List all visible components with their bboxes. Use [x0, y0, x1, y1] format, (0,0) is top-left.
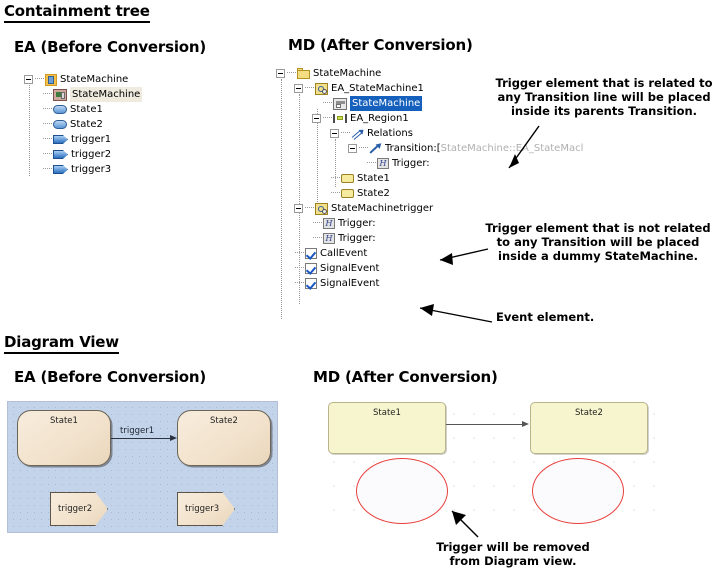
md-state-icon	[341, 174, 354, 183]
annotation-event-pointer	[398, 300, 494, 328]
annotation-line: from Diagram view.	[400, 554, 626, 568]
tree-connector	[295, 252, 304, 254]
expander-icon[interactable]	[330, 129, 339, 138]
ea-statemachine-icon	[53, 89, 67, 101]
tree-node-label: StateMachine	[350, 96, 422, 111]
tree-node-label: trigger1	[71, 132, 111, 147]
tree-node-label: State2	[70, 117, 103, 132]
annotation-line: Trigger element that is related to	[488, 76, 720, 90]
annotation-line: Event element.	[496, 310, 696, 324]
annotation-line: inside its parents Transition.	[488, 104, 720, 118]
tree-connector	[323, 102, 332, 104]
md-diagram-transition-line[interactable]	[446, 424, 526, 425]
ea-diagram-transition-label: trigger1	[120, 426, 154, 436]
tree-node-label: StateMachine	[70, 87, 142, 102]
ea-diagram-state1[interactable]: State1	[17, 410, 111, 466]
ea-trigger-icon	[53, 135, 68, 144]
expander-icon[interactable]	[348, 144, 357, 153]
event-icon	[305, 278, 317, 289]
tree-connector	[35, 78, 44, 80]
tree-connector	[43, 123, 52, 125]
tree-connector	[43, 168, 52, 170]
expander-icon[interactable]	[24, 75, 33, 84]
trigger-icon: H	[377, 158, 389, 169]
statemachine-icon	[315, 203, 328, 215]
tree-connector	[313, 222, 322, 224]
annotation-dummy-note: Trigger element that is not related to a…	[474, 221, 722, 263]
md-diagram-state2-label: State2	[531, 408, 647, 418]
tree-node-label: SignalEvent	[320, 261, 379, 276]
tree-node-trigger2[interactable]: trigger2	[24, 147, 254, 162]
tree-connector	[43, 93, 52, 95]
tree-node-statemachine-root[interactable]: StateMachine	[24, 72, 254, 87]
tree-node-label: EA_StateMachine1	[331, 81, 424, 96]
tree-node-label: CallEvent	[320, 246, 367, 261]
md-diagram-removed-trigger-1[interactable]	[356, 458, 448, 524]
event-icon	[305, 248, 317, 259]
annotation-line: inside a dummy StateMachine.	[474, 249, 722, 263]
md-diagram-state1-label: State1	[329, 408, 445, 418]
tree-node-state1[interactable]: State1	[24, 102, 254, 117]
region-icon	[333, 114, 347, 123]
ea-diagram-trigger3-label: trigger3	[178, 493, 234, 525]
tree-connector	[313, 237, 322, 239]
md-diagram-state1[interactable]: State1	[328, 402, 446, 454]
ea-diagram-transition-arrowhead	[170, 435, 177, 441]
tree-node-statemachine-child[interactable]: StateMachine	[24, 87, 254, 102]
diagram-view-heading: Diagram View	[4, 333, 119, 354]
tree-connector	[331, 177, 340, 179]
tree-node-label: Transition:[	[385, 141, 441, 156]
annotation-transition-note: Trigger element that is related to any T…	[488, 76, 720, 118]
annotation-transition-pointer	[495, 124, 545, 178]
ea-trigger-icon	[53, 150, 68, 159]
tree-node-label: trigger2	[71, 147, 111, 162]
tree-connector	[341, 132, 350, 134]
annotation-event-note: Event element.	[496, 310, 696, 324]
md-state-icon	[341, 189, 354, 198]
tree-connector	[305, 87, 314, 89]
trigger-icon: H	[323, 233, 335, 244]
ea-state-icon	[53, 120, 67, 129]
md-after-conversion-heading: MD (After Conversion)	[288, 36, 473, 54]
relations-icon	[351, 128, 364, 139]
tree-node-label: StateMachinetrigger	[331, 201, 433, 216]
tree-node-label: Relations	[367, 126, 413, 141]
annotation-line: to any Transition will be placed	[474, 235, 722, 249]
ea-diagram-transition-line[interactable]	[111, 438, 173, 439]
tree-node-state2[interactable]: State2	[24, 117, 254, 132]
expander-icon[interactable]	[294, 204, 303, 213]
md-diagram-state2[interactable]: State2	[530, 402, 648, 454]
tree-connector	[323, 117, 332, 119]
ea-diagram-trigger2-label: trigger2	[51, 493, 107, 525]
ea-state-icon	[53, 105, 67, 114]
ea-diagram-trigger2[interactable]: trigger2	[50, 492, 108, 526]
ea-before-conversion-heading: EA (Before Conversion)	[14, 38, 206, 56]
ea-diagram-state2[interactable]: State2	[177, 410, 271, 466]
ea-diagram-state1-label: State1	[18, 416, 110, 426]
ea-before-conversion-heading-2: EA (Before Conversion)	[14, 368, 206, 386]
tree-node-signalevent-2[interactable]: SignalEvent	[276, 276, 576, 291]
statemachine-leaf-icon	[333, 98, 347, 110]
ea-containment-tree[interactable]: StateMachine StateMachine State1 State2 …	[24, 72, 254, 177]
ea-diagram-trigger3[interactable]: trigger3	[177, 492, 235, 526]
tree-connector	[367, 162, 376, 164]
tree-node-label: State1	[357, 171, 390, 186]
tree-node-label: Trigger:	[338, 231, 376, 246]
tree-node-label: StateMachine	[60, 72, 128, 87]
tree-node-label: Trigger:	[392, 156, 430, 171]
tree-node-label: EA_Region1	[350, 111, 409, 126]
tree-node-label: Trigger:	[338, 216, 376, 231]
tree-node-label: State1	[70, 102, 103, 117]
annotation-dummy-pointer	[418, 244, 490, 268]
transition-icon	[369, 143, 382, 154]
tree-connector	[305, 207, 314, 209]
ea-diagram-canvas[interactable]: State1 State2 trigger1 trigger2 trigger3	[7, 401, 278, 533]
statemachine-icon	[315, 83, 328, 95]
tree-connector	[43, 108, 52, 110]
folder-icon	[297, 68, 310, 79]
annotation-line: any Transition line will be placed	[488, 90, 720, 104]
expander-icon[interactable]	[276, 69, 285, 78]
tree-connector	[295, 267, 304, 269]
tree-connector	[359, 147, 368, 149]
tree-node-statemachinetrigger[interactable]: StateMachinetrigger	[276, 201, 576, 216]
tree-node-label: trigger3	[71, 162, 111, 177]
tree-node-label: SignalEvent	[320, 276, 379, 291]
ea-diagram-state2-label: State2	[178, 416, 270, 426]
tree-node-state2[interactable]: State2	[276, 186, 576, 201]
tree-connector	[43, 138, 52, 140]
ea-package-icon	[45, 74, 57, 86]
annotation-removed-pointer	[440, 505, 496, 541]
tree-connector	[43, 153, 52, 155]
md-diagram-transition-arrowhead	[522, 421, 529, 427]
tree-node-label: StateMachine	[313, 66, 381, 81]
tree-node-trigger3[interactable]: trigger3	[24, 162, 254, 177]
tree-node-trigger1[interactable]: trigger1	[24, 132, 254, 147]
trigger-icon: H	[323, 218, 335, 229]
md-diagram-removed-trigger-2[interactable]	[532, 458, 624, 524]
annotation-removed-note: Trigger will be removed from Diagram vie…	[400, 540, 626, 568]
expander-icon[interactable]	[294, 84, 303, 93]
containment-tree-heading: Containment tree	[4, 2, 150, 23]
annotation-line: Trigger will be removed	[400, 540, 626, 554]
tree-connector	[287, 72, 296, 74]
md-after-conversion-heading-2: MD (After Conversion)	[313, 368, 498, 386]
annotation-line: Trigger element that is not related	[474, 221, 722, 235]
expander-icon[interactable]	[312, 114, 321, 123]
event-icon	[305, 263, 317, 274]
tree-connector	[295, 282, 304, 284]
tree-connector	[331, 192, 340, 194]
ea-trigger-icon	[53, 165, 68, 174]
tree-node-label: State2	[357, 186, 390, 201]
